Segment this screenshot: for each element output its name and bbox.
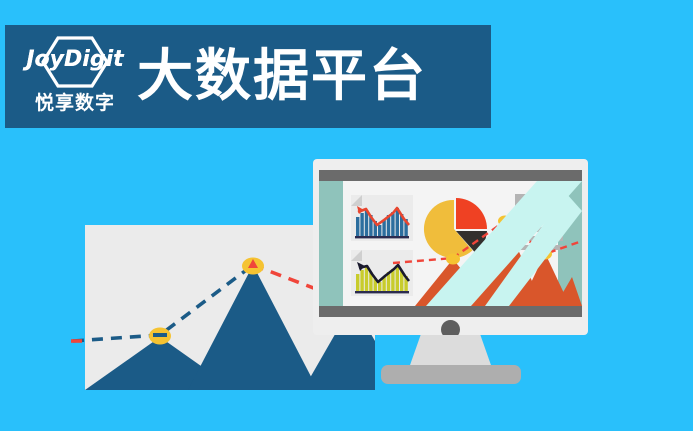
header-banner: JoyDigit 悦享数字 大数据平台 <box>5 25 491 128</box>
screen-glare <box>319 181 582 306</box>
monitor-screen <box>319 181 582 306</box>
brand-logo: JoyDigit 悦享数字 <box>19 33 131 121</box>
monitor-base <box>381 365 521 384</box>
monitor-bottom-bezel <box>319 306 582 317</box>
mountain-shape-center <box>188 265 318 390</box>
logo-subtitle: 悦享数字 <box>19 91 131 115</box>
illustration-stage: JoyDigit 悦享数字 大数据平台 <box>0 0 693 431</box>
desktop-monitor <box>313 159 588 335</box>
monitor-stand <box>409 335 492 368</box>
logo-wordmark: JoyDigit <box>19 47 131 73</box>
monitor-top-bezel <box>319 170 582 181</box>
page-title: 大数据平台 <box>137 45 427 109</box>
marker-peak-hint <box>153 333 167 337</box>
